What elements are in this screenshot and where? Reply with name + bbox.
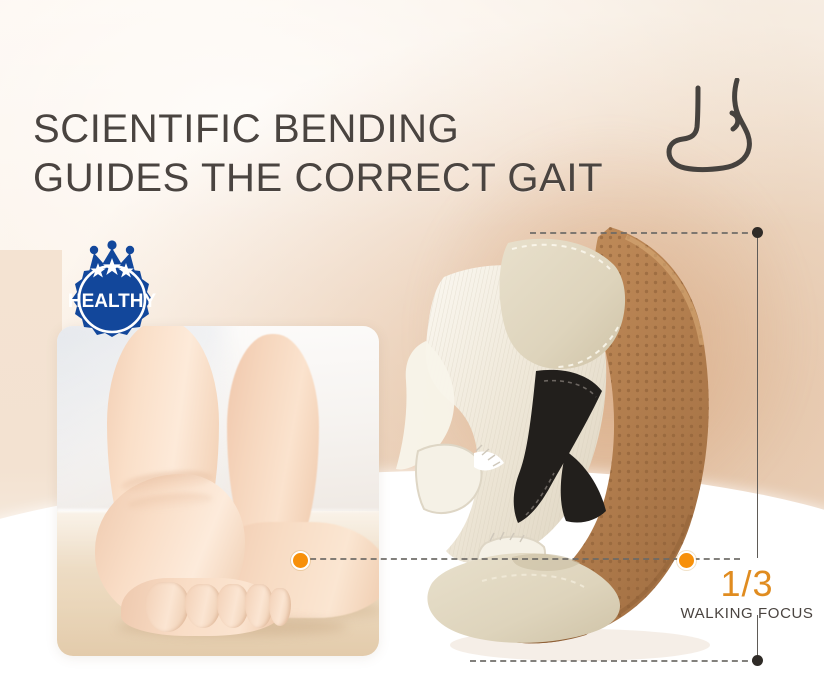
- measure-line-upper: [757, 233, 758, 558]
- measure-dash-middle: [300, 558, 740, 560]
- callout-dot-photo-icon: [291, 551, 310, 570]
- measure-dash-bottom: [470, 660, 758, 662]
- shoe-tongue: [500, 239, 626, 369]
- foot-outline-icon: [663, 78, 771, 178]
- promo-banner: SCIENTIFIC BENDING GUIDES THE CORRECT GA…: [0, 0, 824, 695]
- child-bare-feet-photo: [57, 326, 379, 656]
- headline-line-2: GUIDES THE CORRECT GAIT: [33, 154, 673, 203]
- walking-focus-annotation: 1/3 WALKING FOCUS: [672, 565, 822, 624]
- measure-dot-bottom-icon: [752, 655, 763, 666]
- measure-dot-top-icon: [752, 227, 763, 238]
- annotation-fraction: 1/3: [672, 565, 822, 603]
- page-title: SCIENTIFIC BENDING GUIDES THE CORRECT GA…: [33, 105, 673, 203]
- shoe-velcro-strap-upper: [416, 445, 482, 513]
- badge-label: HEALTHY: [68, 291, 157, 312]
- measure-dash-top: [530, 232, 758, 234]
- healthy-badge: HEALTHY: [53, 239, 171, 357]
- annotation-caption: WALKING FOCUS: [672, 604, 822, 624]
- headline-line-1: SCIENTIFIC BENDING: [33, 107, 459, 151]
